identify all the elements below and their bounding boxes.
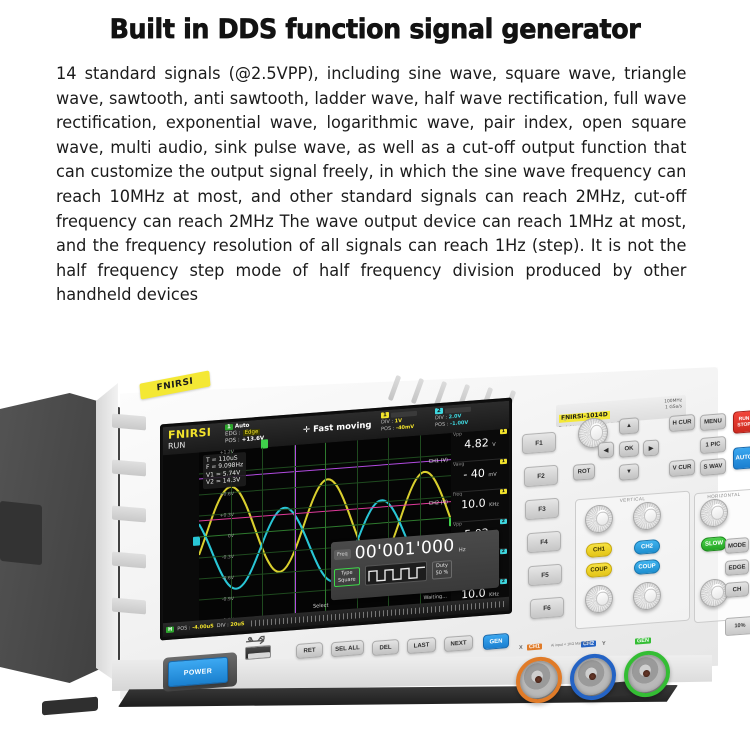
- h-div-readout: DIV : 20uS: [217, 621, 245, 629]
- v-axis-tick: -0.6V: [222, 576, 234, 582]
- square-wave-icon: [366, 562, 427, 586]
- grid-line-v: [325, 443, 326, 611]
- side-vent-group: [108, 415, 160, 665]
- trigger-mode-button[interactable]: MODE: [725, 537, 749, 554]
- rail-measure-value: 4.82 V: [453, 435, 507, 452]
- run-state-label: RUN: [168, 441, 185, 451]
- rear-handle-slot: [0, 501, 42, 565]
- rail-channel-badge: 2: [500, 579, 507, 585]
- select-hint: Select: [313, 603, 328, 610]
- rail-channel-badge: 1: [500, 459, 507, 465]
- v-axis-tick: -0.9V: [222, 597, 234, 603]
- auto-button[interactable]: AUTO: [733, 446, 750, 470]
- channel-1-status[interactable]: 1 DIV : 1V POS : -40mV: [381, 410, 417, 433]
- trigger-edge-button[interactable]: EDGE: [725, 559, 749, 576]
- dds-type-selector[interactable]: Type Square: [334, 567, 360, 587]
- dds-freq-label[interactable]: Freq: [334, 549, 351, 560]
- grid-line-v: [262, 448, 263, 616]
- trigger-source-badge: 1: [225, 424, 233, 431]
- trigger-channel-button[interactable]: CH: [725, 581, 749, 598]
- rail-measure-unit: KHz: [489, 501, 499, 508]
- oscilloscope-product-photo: FNIRSI FNIRSI-1014D Dual channel digital…: [0, 355, 750, 750]
- side-vent: [112, 460, 146, 477]
- side-vent: [112, 506, 146, 523]
- rail-channel-badge: 2: [500, 549, 507, 555]
- grid-line-v: [294, 445, 295, 613]
- model-specs: 100MHz 1 GSa/s: [664, 398, 682, 411]
- rail-measure-label: Vpp: [453, 432, 462, 438]
- rail-measurement-cell[interactable]: freq110.0 KHz: [453, 489, 507, 523]
- measurement-overlay[interactable]: T = 110uSF = 9.098HzV1 = 5.74VV2 = 14.3V: [203, 452, 246, 489]
- side-vent: [112, 414, 146, 431]
- rail-measure-unit: mV: [488, 472, 496, 479]
- side-vent: [112, 552, 146, 569]
- rail-measure-label: Vpp: [453, 522, 462, 528]
- dds-freq-unit: Hz: [459, 547, 466, 554]
- rail-measure-unit: V: [492, 442, 495, 448]
- trigger-status-block[interactable]: 1 Auto EDG : Edge POS : +13.6V: [225, 422, 264, 446]
- probe-ratio-button[interactable]: 10%: [725, 616, 750, 636]
- trigger-mode-value: Auto: [235, 423, 250, 430]
- h-pos-readout: POS : -4.00uS: [177, 623, 214, 632]
- ch2-badge: 2: [435, 408, 443, 415]
- device-foot-left: [42, 697, 98, 716]
- rail-measurement-cell[interactable]: Vpp14.82 V: [453, 429, 507, 463]
- crosshair-icon: ✛: [303, 425, 310, 436]
- dds-duty-value: 50 %: [436, 569, 449, 577]
- v-axis-tick: -0.3V: [222, 555, 234, 561]
- rail-measure-value: - 40 mV: [453, 465, 507, 482]
- lcd-bezel: FNIRSI RUN 1 Auto EDG : Edge POS : +13.6…: [160, 397, 512, 640]
- rail-measurement-cell[interactable]: Vavg1- 40 mV: [453, 459, 507, 493]
- measurement-line: V2 = 14.3V: [206, 476, 243, 486]
- top-vent: [411, 378, 424, 404]
- rail-measure-value: 10.0 KHz: [453, 495, 507, 512]
- rail-channel-badge: 2: [500, 519, 507, 525]
- v-axis-tick: 0V: [228, 534, 234, 539]
- dds-type-value: Square: [338, 576, 356, 584]
- page-title: Built in DDS function signal generator: [23, 14, 728, 45]
- page-root: Built in DDS function signal generator 1…: [0, 0, 750, 750]
- run-stop-button[interactable]: RUN STOP: [733, 410, 750, 434]
- description-paragraph: 14 standard signals (@2.5VPP), including…: [56, 62, 686, 308]
- rail-channel-badge: 1: [500, 489, 507, 495]
- lcd-screen[interactable]: FNIRSI RUN 1 Auto EDG : Edge POS : +13.6…: [163, 401, 509, 638]
- rail-measure-label: freq: [453, 492, 462, 498]
- side-vent: [112, 598, 146, 615]
- rail-measure-label: Vavg: [453, 462, 464, 468]
- ch1-badge: 1: [381, 412, 389, 419]
- dds-waveform-preview: [365, 561, 427, 586]
- horizontal-badge: H: [166, 626, 174, 633]
- dds-duty-selector[interactable]: Duty 50 %: [432, 560, 453, 580]
- v-axis-tick: +0.6V: [220, 492, 234, 498]
- trigger-pos-label: POS :: [225, 437, 240, 444]
- rail-channel-badge: 1: [500, 429, 507, 435]
- v-axis-tick: +0.3V: [220, 513, 234, 519]
- channel-2-status[interactable]: 2 DIV : 2.0V POS : -1.00V: [435, 406, 471, 429]
